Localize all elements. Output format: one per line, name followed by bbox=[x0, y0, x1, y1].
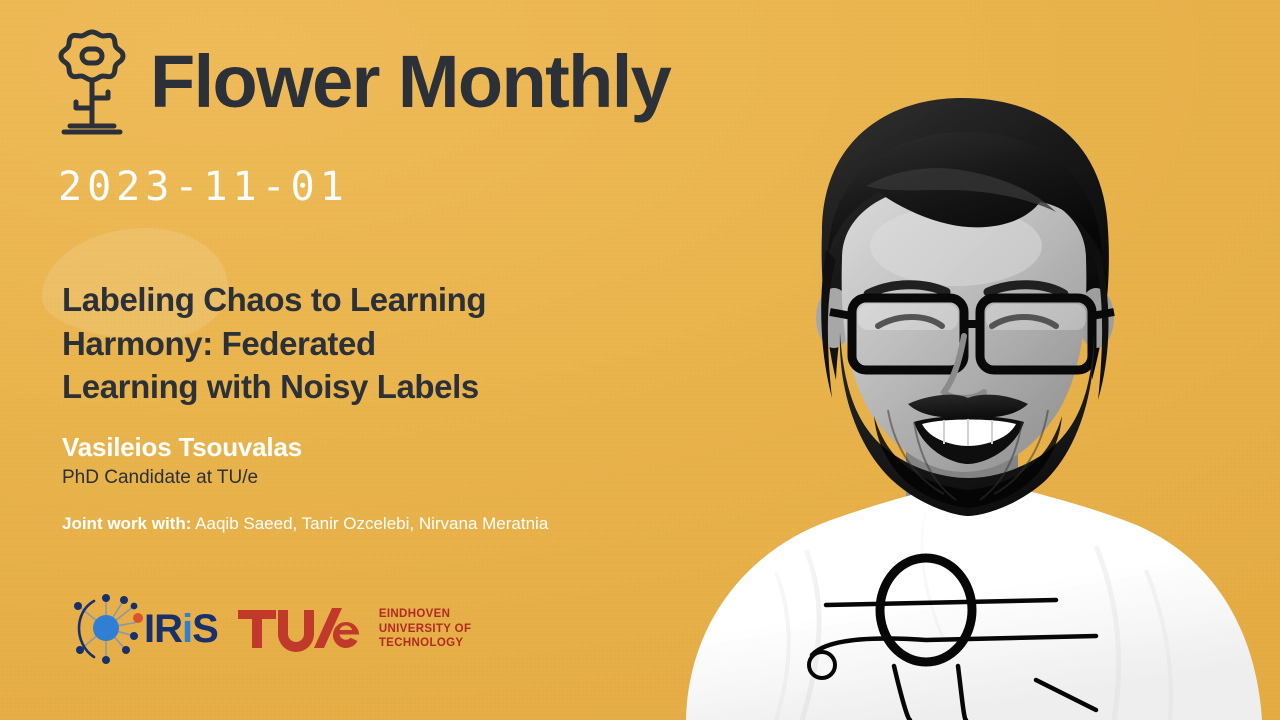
flower-icon bbox=[56, 28, 128, 136]
brand-header: Flower Monthly bbox=[56, 28, 670, 136]
tue-logo: Eindhoven University of Technology bbox=[238, 606, 472, 652]
event-date: 2023-11-01 bbox=[58, 167, 349, 207]
speaker-portrait bbox=[626, 80, 1280, 720]
tue-subtitle: Eindhoven University of Technology bbox=[379, 607, 472, 651]
iris-wordmark-post: S bbox=[192, 607, 218, 651]
talk-title-line-1: Labeling Chaos to Learning bbox=[62, 278, 682, 322]
iris-wordmark: IRiS bbox=[144, 609, 218, 649]
joint-work-label: Joint work with: bbox=[62, 514, 191, 533]
tue-wordmark-icon bbox=[238, 606, 370, 652]
speaker-name: Vasileios Tsouvalas bbox=[62, 433, 682, 463]
talk-details: Labeling Chaos to Learning Harmony: Fede… bbox=[62, 278, 682, 537]
speaker-role: PhD Candidate at TU/e bbox=[62, 466, 682, 491]
page-title: Flower Monthly bbox=[150, 45, 670, 119]
iris-wordmark-i: i bbox=[182, 607, 192, 651]
iris-wordmark-pre: IR bbox=[144, 607, 182, 651]
presentation-slide: Flower Monthly 2023-11-01 Labeling Chaos… bbox=[0, 0, 1280, 720]
logo-row: IRiS Eindhoven University of bbox=[72, 592, 471, 666]
iris-network-icon bbox=[72, 592, 148, 666]
talk-title-line-3: Learning with Noisy Labels bbox=[62, 365, 682, 409]
iris-logo: IRiS bbox=[72, 592, 218, 666]
tue-subtitle-line-2: University of bbox=[379, 622, 472, 637]
joint-work-authors: Aaqib Saeed, Tanir Ozcelebi, Nirvana Mer… bbox=[191, 514, 548, 533]
joint-work-credits: Joint work with: Aaqib Saeed, Tanir Ozce… bbox=[62, 512, 682, 537]
talk-title: Labeling Chaos to Learning Harmony: Fede… bbox=[62, 278, 682, 409]
tue-subtitle-line-3: Technology bbox=[379, 636, 472, 651]
talk-title-line-2: Harmony: Federated bbox=[62, 322, 682, 366]
tue-subtitle-line-1: Eindhoven bbox=[379, 607, 472, 622]
